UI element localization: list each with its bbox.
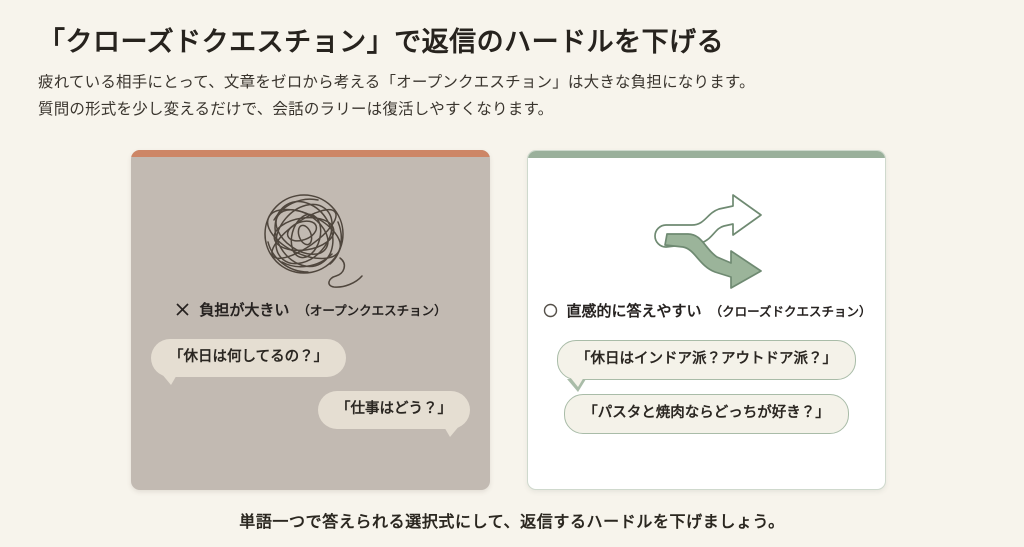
card-body-bad: 負担が大きい （オープンクエスチョン） 「休日は何してるの？」 「仕事はどう？」 [131,157,490,490]
lede-paragraph: 疲れている相手にとって、文章をゼロから考える「オープンクエスチョン」は大きな負担… [38,70,755,123]
tangled-yarn-ball-icon [252,184,370,292]
speech-bubble: 「休日はインドア派？アウトドア派？」 [557,340,856,380]
forked-arrow-icon [645,187,769,291]
cross-icon [174,301,191,318]
bubble-row: 「休日はインドア派？アウトドア派？」 [548,340,865,380]
lede-line-2: 質問の形式を少し変えるだけで、会話のラリーは復活しやすくなります。 [38,97,755,124]
card-label-main-good: 直感的に答えやすい [567,300,702,321]
speech-bubble: 「パスタと焼肉ならどっちが好き？」 [564,394,849,434]
comparison-cards: 負担が大きい （オープンクエスチョン） 「休日は何してるの？」 「仕事はどう？」 [0,150,1024,492]
card-accent-bar-good [528,151,885,158]
card-accent-bar-bad [131,150,490,157]
bubble-list-good: 「休日はインドア派？アウトドア派？」 「パスタと焼肉ならどっちが好き？」 [548,340,865,471]
speech-bubble-text: 「休日はインドア派？アウトドア派？」 [576,351,837,367]
speech-bubble-text: 「仕事はどう？」 [336,401,452,417]
tangled-yarn-illustration [131,179,490,297]
bubble-tail-icon [443,425,460,437]
card-label-main-bad: 負担が大きい [199,299,289,320]
card-label-good: 直感的に答えやすい （クローズドクエスチョン） [528,300,885,321]
card-open-question: 負担が大きい （オープンクエスチョン） 「休日は何してるの？」 「仕事はどう？」 [131,150,490,490]
card-label-paren-good: （クローズドクエスチョン） [710,301,872,320]
page-title: 「クローズドクエスチョン」で返信のハードルを下げる [38,20,724,59]
speech-bubble-text: 「パスタと焼肉ならどっちが好き？」 [583,405,830,421]
speech-bubble-text: 「休日は何してるの？」 [169,349,328,365]
bubble-tail-icon [161,373,178,385]
card-label-bad: 負担が大きい （オープンクエスチョン） [131,299,490,320]
bubble-tail-icon [567,379,586,392]
card-closed-question: 直感的に答えやすい （クローズドクエスチョン） 「休日はインドア派？アウトドア派… [527,150,886,490]
speech-bubble: 「仕事はどう？」 [318,391,470,429]
lede-line-1: 疲れている相手にとって、文章をゼロから考える「オープンクエスチョン」は大きな負担… [38,70,755,97]
footer-note: 単語一つで答えられる選択式にして、返信するハードルを下げましょう。 [0,508,1024,532]
bubble-row: 「休日は何してるの？」 [151,339,470,377]
card-body-good: 直感的に答えやすい （クローズドクエスチョン） 「休日はインドア派？アウトドア派… [528,158,885,489]
circle-icon [542,302,559,319]
forked-arrow-illustration [528,180,885,298]
speech-bubble: 「休日は何してるの？」 [151,339,346,377]
card-label-paren-bad: （オープンクエスチョン） [297,300,446,319]
bubble-list-bad: 「休日は何してるの？」 「仕事はどう？」 [151,339,470,472]
bubble-row: 「パスタと焼肉ならどっちが好き？」 [548,394,865,434]
bubble-row: 「仕事はどう？」 [151,391,470,429]
